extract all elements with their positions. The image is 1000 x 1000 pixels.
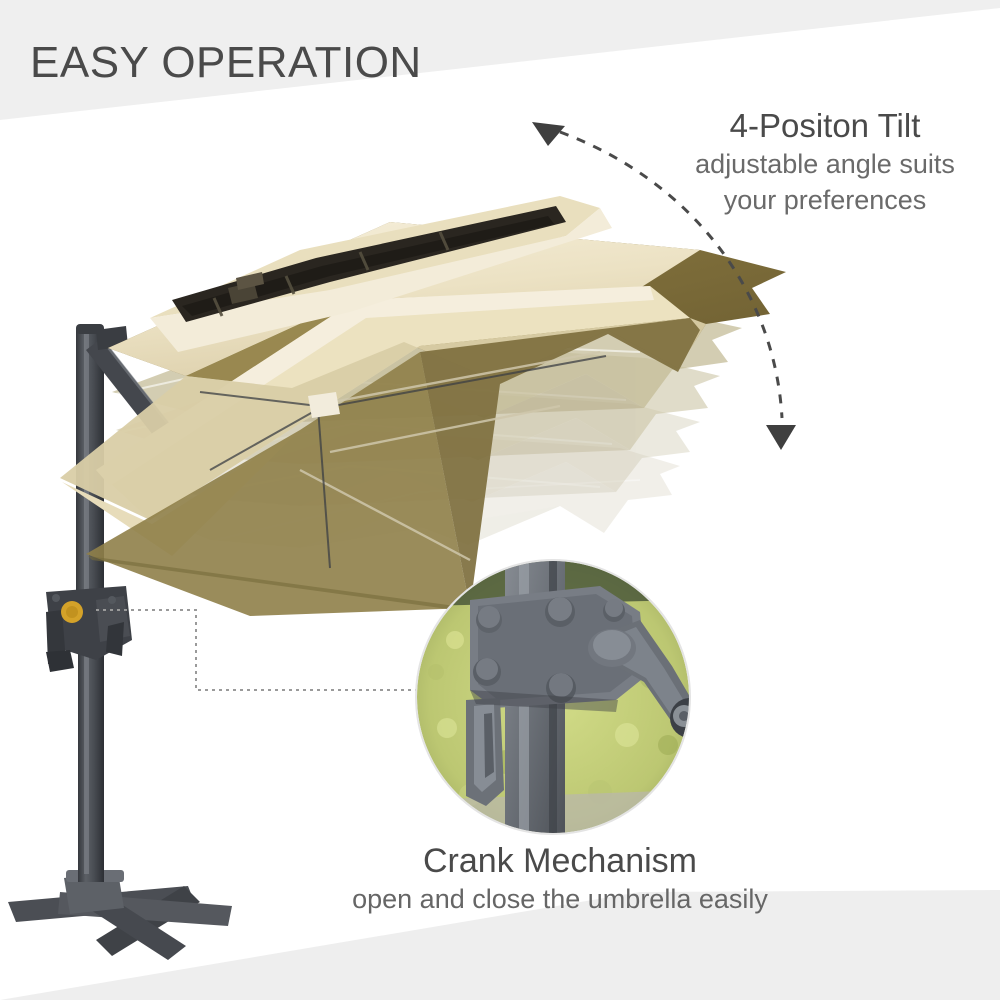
leader-line (96, 610, 418, 690)
arrow-head-start (532, 122, 565, 146)
tilt-callout-subtitle-line1: adjustable angle suits (660, 149, 990, 181)
crank-mechanism-inset (416, 555, 710, 840)
tilt-callout-subtitle-line2: your preferences (660, 185, 990, 217)
tilt-callout: 4-Positon Tilt adjustable angle suits yo… (660, 108, 990, 217)
crank-callout-subtitle: open and close the umbrella easily (250, 884, 870, 916)
infographic-page: EASY OPERATION (0, 0, 1000, 1000)
crank-callout-title: Crank Mechanism (250, 842, 870, 881)
arrow-head-end (766, 425, 796, 450)
umbrella-base (8, 870, 232, 960)
crank-callout: Crank Mechanism open and close the umbre… (250, 842, 870, 916)
tilt-callout-title: 4-Positon Tilt (660, 108, 990, 145)
